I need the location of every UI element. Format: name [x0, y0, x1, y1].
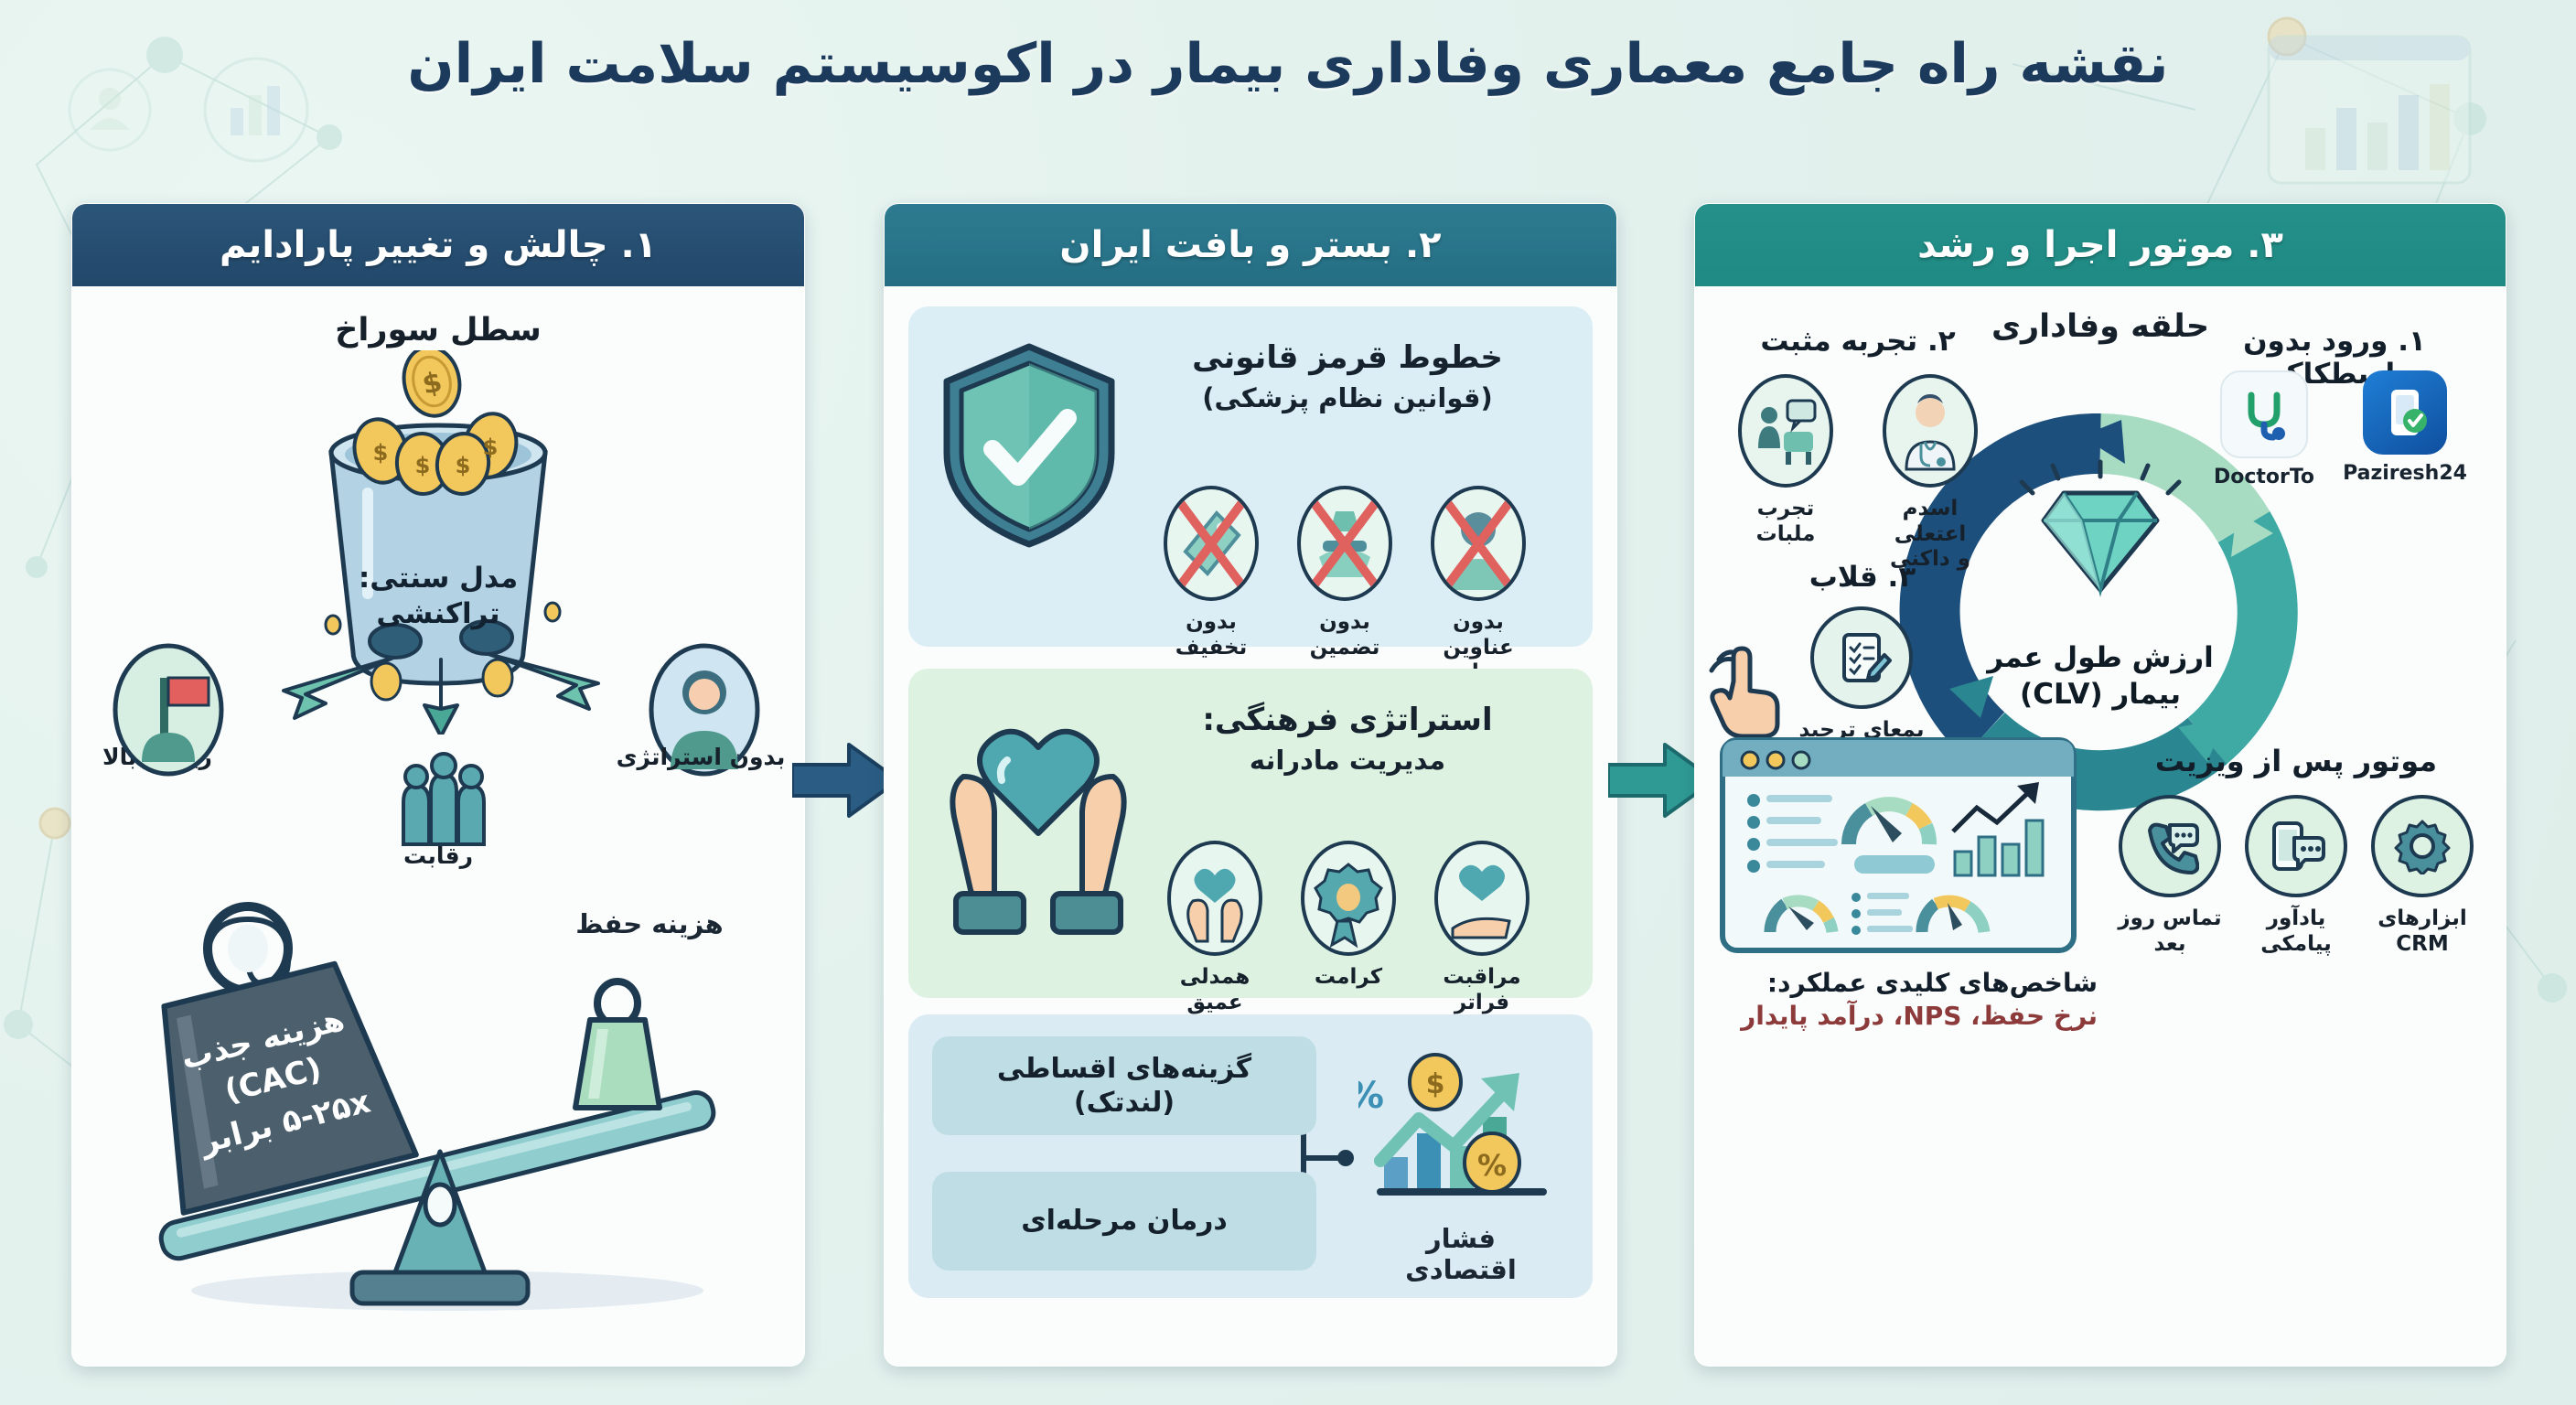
label-next-day-call: تماس روز بعد [2111, 906, 2228, 957]
value-deep-empathy: همدلی عمیق [1159, 841, 1271, 1041]
prohibition-no-discount: بدون تخفیف [1155, 486, 1267, 686]
entry-apps-row: Paziresh24 DoctorTo [2195, 370, 2474, 488]
svg-text:$: $ [483, 434, 499, 460]
svg-text:%: % [1477, 1148, 1507, 1183]
app-doctorto[interactable]: DoctorTo [2202, 370, 2326, 488]
label-sms-reminder: یادآور پیامکی [2238, 906, 2355, 957]
label-retention-cost: هزینه حفظ [535, 908, 764, 939]
app-paziresh24-name: Paziresh24 [2343, 462, 2467, 485]
page-title: نقشه راه جامع معماری وفاداری بیمار در اک… [0, 31, 2576, 98]
panel-economic-pressure: $ % % فشار اقتصادی گزینه‌های اقساطی [908, 1014, 1593, 1298]
infographic-canvas: نقشه راه جامع معماری وفاداری بیمار در اک… [0, 0, 2576, 1405]
panel-cultural-strategy: استراتژی فرهنگی: مدیریت مادرانه [908, 669, 1593, 998]
svg-text:%: % [1358, 1075, 1384, 1117]
economic-pressure-caption: فشار اقتصادی [1369, 1223, 1552, 1285]
prohibition-no-fake-titles: بدون عناوین جعلی [1422, 486, 1534, 686]
pill-installment-options[interactable]: گزینه‌های اقساطی (لندتک) [932, 1036, 1316, 1135]
checklist-pen-icon [1810, 606, 1913, 709]
label-dignity: کرامت [1293, 965, 1404, 991]
fake-title-person-icon [1431, 486, 1526, 601]
culture-panel-title: استراتژی فرهنگی: مدیریت مادرانه [1128, 700, 1567, 778]
click-hand-icon [1702, 639, 1790, 740]
hand-heart-icon [1434, 841, 1529, 956]
guarantee-handshake-icon [1297, 486, 1392, 601]
phone-call-icon [2119, 795, 2221, 897]
discount-tag-icon [1164, 486, 1259, 601]
column-context: ۲. بستر و بافت ایران خطوط قرمز قانونی (ق… [884, 203, 1617, 1367]
hands-holding-heart-icon [939, 713, 1137, 941]
phone-check-app-icon [2363, 370, 2447, 455]
column-challenge: ۱. چالش و تغییر پارادایم سطل سوراخ $ [71, 203, 805, 1367]
label-competition: رقابت [72, 842, 804, 871]
leaky-bucket-illustration: $ $$ $$ [223, 350, 653, 735]
label-step3-hook: ۳. قلاب [1748, 561, 1977, 594]
doctor-icon [1883, 374, 1978, 488]
staged-treatment-pill-wrap[interactable]: درمان مرحله‌ای [932, 1172, 1316, 1271]
installment-pill-wrap[interactable]: گزینه‌های اقساطی (لندتک) [932, 1036, 1316, 1135]
value-beyond-duty-care: مراقبت فراتر از وظیفه [1426, 841, 1538, 1041]
post-visit-row: ابزارهای CRM یادآور پیامکی [2109, 795, 2484, 957]
dashboard-gauges-icon [1719, 736, 2077, 954]
clv-center-label: ارزش طول عمر بیمار (CLV) [1963, 639, 2238, 713]
kpi-caption: شاخص‌های کلیدی عملکرد: نرخ حفظ، NPS، درآ… [1713, 967, 2098, 1034]
column-engine: ۳. موتور اجرا و رشد حلقه وفاداری [1694, 203, 2506, 1367]
svg-text:$: $ [415, 453, 431, 478]
prohibition-no-guarantee: بدون تضمین [1289, 486, 1401, 686]
column2-header: ۲. بستر و بافت ایران [885, 204, 1616, 286]
post-visit-call: تماس روز بعد [2111, 795, 2228, 957]
legal-panel-title: خطوط قرمز قانونی (قوانین نظام پزشکی) [1128, 338, 1567, 416]
label-no-discount: بدون تخفیف [1155, 610, 1267, 660]
shield-check-icon [939, 339, 1119, 552]
column3-header: ۳. موتور اجرا و رشد [1695, 204, 2506, 286]
legal-prohibitions-row: بدون عناوین جعلی بدون تضمین [1155, 486, 1534, 686]
label-no-strategy: بدون استراتژی [586, 744, 805, 772]
no-strategy-flag-icon [109, 641, 228, 778]
award-ribbon-icon [1301, 841, 1396, 956]
hands-heart-icon [1167, 841, 1262, 956]
app-paziresh24[interactable]: Paziresh24 [2343, 370, 2467, 488]
crm-gear-icon [2371, 795, 2474, 897]
value-dignity: کرامت [1293, 841, 1404, 1041]
svg-text:$: $ [456, 453, 471, 478]
svg-text:$: $ [1426, 1068, 1445, 1100]
label-crm-tools: ابزارهای CRM [2364, 906, 2481, 957]
column1-header: ۱. چالش و تغییر پارادایم [72, 204, 804, 286]
label-step2-positive-experience: ۲. تجربه مثبت [1721, 325, 1995, 358]
panel-legal-redlines: خطوط قرمز قانونی (قوانین نظام پزشکی) [908, 306, 1593, 647]
stethoscope-app-icon [2220, 370, 2308, 458]
experience-doctor: اسدم اعتعلی و داکنی [1866, 374, 1994, 573]
cac-vs-retention-seesaw: هزینه جذب (CAC) ۵-۲۵x برابر [100, 877, 777, 1335]
traditional-model-label: مدل سنتی: تراکنشی [72, 561, 804, 632]
svg-text:$: $ [373, 440, 389, 466]
positive-experience-icons: اسدم اعتعلی و داکنی تجرب ملبات [1715, 374, 2001, 573]
growth-chart-percent-icon: $ % % [1358, 1046, 1565, 1228]
post-visit-sms: یادآور پیامکی [2238, 795, 2355, 957]
label-positive-experience: تجرب ملبات [1722, 497, 1850, 547]
app-doctorto-name: DoctorTo [2202, 466, 2326, 488]
post-visit-crm: ابزارهای CRM [2364, 795, 2481, 957]
competition-people-icon [383, 749, 493, 850]
pill-staged-treatment[interactable]: درمان مرحله‌ای [932, 1172, 1316, 1271]
experience-waiting-room: تجرب ملبات [1722, 374, 1850, 573]
post-visit-title: موتور پس از ویزیت [2109, 744, 2484, 778]
culture-values-row: مراقبت فراتر از وظیفه کرامت [1159, 841, 1538, 1041]
label-deep-empathy: همدلی عمیق [1159, 965, 1271, 1015]
sms-reminder-icon [2245, 795, 2347, 897]
waiting-room-icon [1738, 374, 1833, 488]
label-no-guarantee: بدون تضمین [1289, 610, 1401, 660]
leaky-bucket-title: سطل سوراخ [72, 312, 804, 349]
